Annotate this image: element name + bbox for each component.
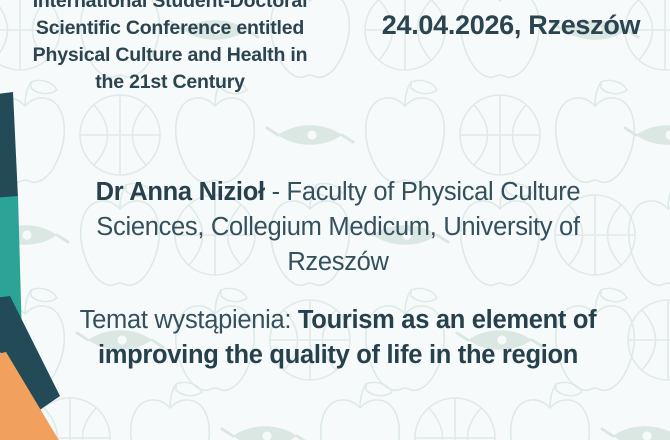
date-location: 24.04.2026, Rzeszów — [352, 8, 670, 42]
topic-label: Temat wystąpienia: — [80, 306, 298, 334]
speaker-block: Dr Anna Nizioł - Faculty of Physical Cul… — [48, 175, 628, 280]
teal-bar — [0, 196, 22, 342]
conference-title-line-2: Scientific Conference entitled — [0, 15, 344, 42]
poster-canvas: International Student-Doctoral Scientifi… — [0, 0, 670, 440]
conference-title-line-3: Physical Culture and Health in — [0, 42, 344, 69]
navy-bar-upper — [0, 92, 18, 200]
topic-block: Temat wystąpienia: Tourism as an element… — [48, 303, 628, 373]
conference-title: International Student-Doctoral Scientifi… — [0, 0, 344, 96]
conference-title-line-1: International Student-Doctoral — [0, 0, 344, 15]
conference-title-line-4: the 21st Century — [0, 69, 344, 96]
speaker-separator: - — [265, 178, 287, 206]
speaker-name: Dr Anna Nizioł — [96, 178, 265, 206]
